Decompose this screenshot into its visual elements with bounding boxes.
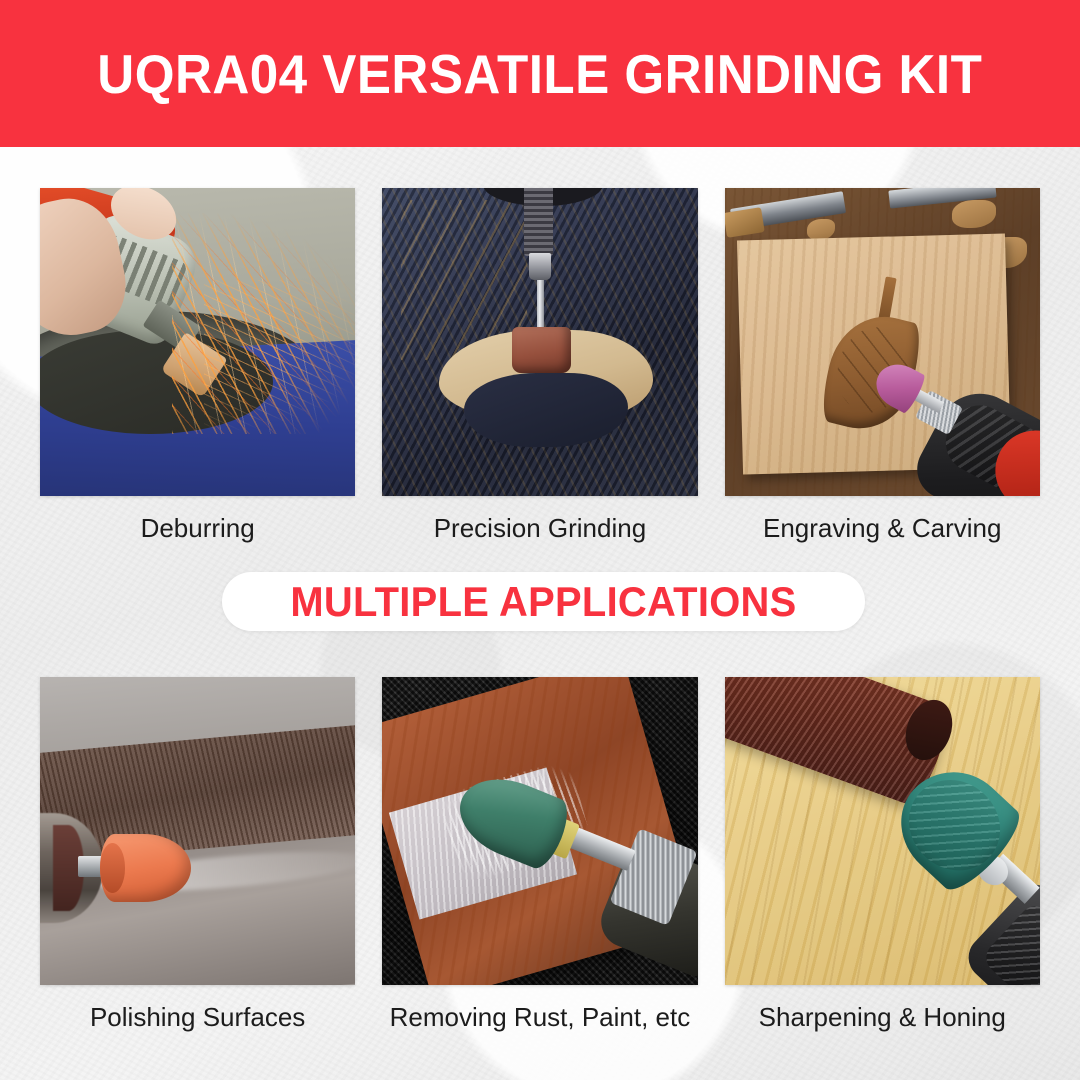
tile-engraving-carving[interactable]: Engraving & Carving bbox=[725, 188, 1040, 541]
photo-engraving-carving bbox=[725, 188, 1040, 496]
tile-row-top: Deburring Precision Grinding bbox=[40, 188, 1040, 541]
applications-banner-label: MULTIPLE APPLICATIONS bbox=[290, 578, 796, 626]
tile-sharpening-honing[interactable]: Sharpening & Honing bbox=[725, 677, 1040, 1030]
header-banner: UQRA04 VERSATILE GRINDING KIT bbox=[0, 0, 1080, 147]
tile-caption: Polishing Surfaces bbox=[90, 1004, 305, 1030]
page-title: UQRA04 VERSATILE GRINDING KIT bbox=[97, 42, 982, 106]
photo-removing-rust bbox=[382, 677, 697, 985]
tile-deburring[interactable]: Deburring bbox=[40, 188, 355, 541]
photo-precision-grinding bbox=[382, 188, 697, 496]
tile-caption: Engraving & Carving bbox=[763, 515, 1001, 541]
tile-precision-grinding[interactable]: Precision Grinding bbox=[382, 188, 697, 541]
tile-polishing-surfaces[interactable]: Polishing Surfaces bbox=[40, 677, 355, 1030]
tile-removing-rust[interactable]: Removing Rust, Paint, etc bbox=[382, 677, 697, 1030]
tile-caption: Removing Rust, Paint, etc bbox=[390, 1004, 691, 1030]
tile-caption: Sharpening & Honing bbox=[759, 1004, 1006, 1030]
applications-banner: MULTIPLE APPLICATIONS bbox=[222, 572, 865, 631]
tile-caption: Precision Grinding bbox=[434, 515, 646, 541]
infographic-page: UQRA04 VERSATILE GRINDING KIT Deburring bbox=[0, 0, 1080, 1080]
photo-sharpening-honing bbox=[725, 677, 1040, 985]
photo-deburring bbox=[40, 188, 355, 496]
tile-row-bottom: Polishing Surfaces Removing Rust, Paint,… bbox=[40, 677, 1040, 1030]
photo-polishing-surfaces bbox=[40, 677, 355, 985]
tile-caption: Deburring bbox=[141, 515, 255, 541]
